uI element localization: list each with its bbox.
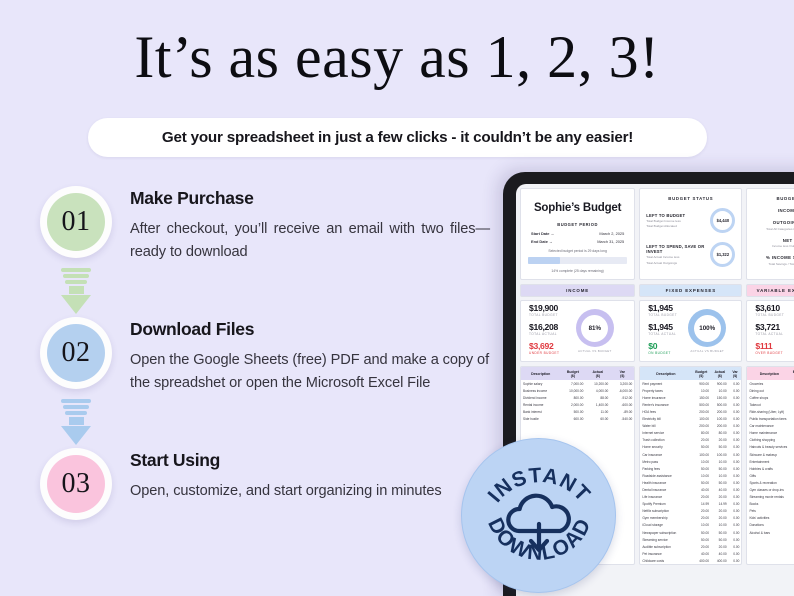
budget-period-heading: BUDGET PERIOD — [525, 222, 630, 227]
cell-amount: 50.00 — [711, 465, 729, 472]
cell-amount: -600.00 — [610, 401, 634, 408]
cell-amount: 100.00 — [692, 416, 711, 423]
cell-amount: 50.00 — [711, 444, 729, 451]
band-variable: VARIABLE EXPENSES — [746, 284, 794, 297]
badge-svg: INSTANT DOWNLOAD — [462, 439, 617, 594]
cell-description: Entertainment — [747, 458, 791, 465]
cell-amount: 900.00 — [692, 380, 711, 387]
cell-amount: 200.00 — [711, 408, 729, 415]
cell-description: Streaming service — [640, 536, 691, 543]
income-variance-label: UNDER BUDGET — [529, 351, 559, 355]
cell-description: Ride-sharing (Uber, Lyft) — [747, 408, 791, 415]
cell-amount: 0.00 — [729, 501, 742, 508]
step-1-title: Make Purchase — [130, 188, 490, 209]
table-row[interactable]: Sports & recreation — [747, 479, 794, 486]
cell-amount: 0.00 — [729, 472, 742, 479]
step-1-badge: 01 — [40, 186, 112, 258]
fixed-table-body: Rent payment900.00900.000.00Property tax… — [640, 380, 741, 564]
budget-progress-bar — [528, 257, 627, 264]
cell-amount: 0.00 — [729, 494, 742, 501]
fixed-total-budget-label: TOTAL BUDGET — [648, 313, 677, 317]
income-percent-label: ACTUAL VS BUDGET — [578, 349, 612, 353]
cell-amount: 20.00 — [692, 508, 711, 515]
table-row[interactable]: Ride-sharing (Uber, Lyft) — [747, 408, 794, 415]
cell-description: Hobbies & crafts — [747, 465, 791, 472]
variable-total-actual: $3,721 — [755, 322, 784, 332]
overview-3-label: NET — [751, 238, 794, 243]
table-row[interactable]: Entertainment — [747, 458, 794, 465]
cell-amount: 0.00 — [729, 458, 742, 465]
table-row[interactable]: Gym classes or drop-ins — [747, 486, 794, 493]
cell-amount: 10.00 — [692, 522, 711, 529]
cell-amount: 10,200.00 — [585, 380, 610, 387]
cell-description: iCloud storage — [640, 522, 691, 529]
status-2-label: LEFT TO SPEND, SAVE OR INVEST — [646, 244, 710, 254]
badge-top-text: INSTANT — [484, 464, 595, 507]
cell-amount: 20.00 — [711, 515, 729, 522]
cell-description: Dividend income — [521, 394, 560, 401]
cell-description: Gym membership — [640, 515, 691, 522]
end-date-label: End Date → — [531, 239, 553, 244]
cell-description: Metro pass — [640, 458, 691, 465]
col-header: Description — [521, 367, 560, 380]
cell-description: Home maintenance — [747, 430, 791, 437]
income-donut: 81% — [576, 309, 614, 347]
table-row[interactable]: Home maintenance — [747, 430, 794, 437]
step-1-number: 01 — [47, 193, 105, 251]
cell-amount: 0.00 — [729, 557, 742, 564]
table-row[interactable]: Rental income2,000.001,400.00-600.00 — [521, 401, 634, 408]
step-1-text: Make Purchase After checkout, you’ll rec… — [130, 188, 490, 263]
instant-download-badge[interactable]: INSTANT DOWNLOAD — [461, 438, 616, 593]
cell-description: Groceries — [747, 380, 791, 387]
cell-description: Sports & recreation — [747, 479, 791, 486]
step-3-badge: 03 — [40, 448, 112, 520]
income-total-budget: $19,900 — [529, 303, 559, 313]
cell-description: Gifts — [747, 472, 791, 479]
cell-amount: 10.00 — [711, 472, 729, 479]
arrow-down-icon-1 — [57, 268, 95, 314]
cell-description: Rent payment — [640, 380, 691, 387]
cell-amount: 400.00 — [692, 557, 711, 564]
cell-amount: 100.00 — [692, 451, 711, 458]
income-table-body: Sophie salary7,000.0010,200.003,200.00Bu… — [521, 380, 634, 423]
status-1-label: LEFT TO BUDGET — [646, 213, 685, 218]
cell-description: Pet insurance — [640, 550, 691, 557]
cell-amount: 200.00 — [692, 423, 711, 430]
cell-amount: 80.00 — [692, 430, 711, 437]
table-row[interactable]: HOA fees200.00200.000.00 — [640, 408, 741, 415]
cell-description: Home security — [640, 444, 691, 451]
table-row[interactable]: Books — [747, 501, 794, 508]
table-row[interactable]: Takeout — [747, 401, 794, 408]
cell-description: Spotify Premium — [640, 501, 691, 508]
cell-amount: 0.00 — [729, 465, 742, 472]
cell-amount: 40.00 — [711, 486, 729, 493]
table-row[interactable]: Metro pass10.0010.000.00 — [640, 458, 741, 465]
cell-amount: 200.00 — [692, 408, 711, 415]
fixed-donut: 100% — [688, 309, 726, 347]
cell-description: Childcare costs — [640, 557, 691, 564]
cell-amount: 50.00 — [692, 536, 711, 543]
variable-table[interactable]: DescriptionBudget($)Actual($)Var($) Groc… — [746, 366, 794, 565]
cell-description: Clothing shopping — [747, 437, 791, 444]
cell-amount: 20.00 — [711, 494, 729, 501]
income-percent: 81% — [581, 315, 608, 342]
cell-description: Car insurance — [640, 451, 691, 458]
fixed-percent: 100% — [694, 315, 721, 342]
cell-description: Dining out — [747, 387, 791, 394]
status-1-sub2: Total Budget Allocated — [646, 224, 685, 228]
status-2-value: $1,322 — [710, 242, 735, 267]
cell-description: Rental income — [521, 401, 560, 408]
band-fixed: FIXED EXPENSES — [639, 284, 742, 297]
cell-amount: 4,000.00 — [585, 387, 610, 394]
table-row[interactable]: Renter's insurance500.00500.000.00 — [640, 401, 741, 408]
cell-amount: 600.00 — [560, 416, 585, 423]
table-row[interactable]: Roadside assistance10.0010.000.00 — [640, 472, 741, 479]
table-row[interactable]: Haircuts & beauty services — [747, 444, 794, 451]
cell-description: Sophie salary — [521, 380, 560, 387]
cell-description: Water bill — [640, 423, 691, 430]
cell-description: Alcohol & bars — [747, 529, 791, 536]
cell-amount: 0.00 — [729, 408, 742, 415]
cell-amount: 0.00 — [729, 529, 742, 536]
cell-amount: 0.00 — [729, 444, 742, 451]
cell-description: Books — [747, 501, 791, 508]
fixed-variance: $0 — [648, 341, 677, 351]
cell-amount: 10.00 — [711, 387, 729, 394]
status-1-value: $4,440 — [710, 208, 735, 233]
cell-amount: -6,000.00 — [610, 387, 634, 394]
cell-amount: 88.00 — [585, 394, 610, 401]
cell-description: Public transportation fares — [747, 416, 791, 423]
cell-description: Electricity bill — [640, 416, 691, 423]
budget-status-card: BUDGET STATUS LEFT TO BUDGET Total Budge… — [639, 188, 742, 280]
cell-amount: 50.00 — [692, 479, 711, 486]
status-2-sub1: Total Actual Income less — [646, 255, 710, 259]
table-row[interactable]: Health insurance50.0050.000.00 — [640, 479, 741, 486]
start-date-label: Start Date → — [531, 231, 554, 236]
cell-description: Coffee shops — [747, 394, 791, 401]
cell-amount: 500.00 — [711, 401, 729, 408]
table-row[interactable]: Rent payment900.00900.000.00 — [640, 380, 741, 387]
table-row[interactable]: Groceries — [747, 380, 794, 387]
table-row[interactable]: Internet service80.0080.000.00 — [640, 430, 741, 437]
step-3-text: Start Using Open, customize, and start o… — [130, 450, 490, 503]
cell-description: Business income — [521, 387, 560, 394]
col-header: Var($) — [610, 367, 634, 380]
cell-amount: 100.00 — [711, 451, 729, 458]
cell-description: Kids' activities — [747, 515, 791, 522]
cell-amount: 0.00 — [729, 536, 742, 543]
income-total-actual: $16,208 — [529, 322, 559, 332]
table-row[interactable]: Audible subscription20.0020.000.00 — [640, 543, 741, 550]
table-row[interactable]: Dental insurance40.0040.000.00 — [640, 486, 741, 493]
budget-period-note: Selected budget period is 29 days long — [525, 249, 630, 253]
table-row[interactable]: Car insurance100.00100.000.00 — [640, 451, 741, 458]
table-row[interactable]: Coffee shops — [747, 394, 794, 401]
cell-amount: 40.00 — [692, 550, 711, 557]
cell-description: Home insurance — [640, 394, 691, 401]
variable-total-actual-label: TOTAL ACTUAL — [755, 332, 784, 336]
table-row[interactable]: Life insurance20.0020.000.00 — [640, 494, 741, 501]
cell-amount: 0.00 — [729, 437, 742, 444]
table-row[interactable]: Car maintenance — [747, 423, 794, 430]
fixed-table-header: DescriptionBudget($)Actual($)Var($) — [640, 367, 741, 380]
cell-amount: 0.00 — [729, 543, 742, 550]
variable-table-body: GroceriesDining outCoffee shopsTakeoutRi… — [747, 380, 794, 536]
cell-amount: 500.00 — [560, 408, 585, 415]
cell-description: Donations — [747, 522, 791, 529]
step-3-desc: Open, customize, and start organizing in… — [130, 480, 490, 503]
step-2-text: Download Files Open the Google Sheets (f… — [130, 319, 490, 394]
cell-amount: 0.00 — [729, 486, 742, 493]
cell-amount: 10.00 — [692, 472, 711, 479]
income-table-header: DescriptionBudget($)Actual($)Var($) — [521, 367, 634, 380]
table-row[interactable]: Clothing shopping — [747, 437, 794, 444]
cell-amount: 11.00 — [585, 408, 610, 415]
cell-description: Car maintenance — [747, 423, 791, 430]
variable-variance-label: OVER BUDGET — [755, 351, 784, 355]
income-variance: $3,692 — [529, 341, 559, 351]
fixed-percent-label: ACTUAL VS BUDGET — [690, 349, 724, 353]
table-row[interactable]: Pets — [747, 508, 794, 515]
cell-amount: 20.00 — [711, 437, 729, 444]
table-row[interactable]: Pet insurance40.0040.000.00 — [640, 550, 741, 557]
table-row[interactable]: Side hustle600.0060.00-540.00 — [521, 416, 634, 423]
table-row[interactable]: Bank interest500.0011.00-89.00 — [521, 408, 634, 415]
cell-amount: 50.00 — [692, 529, 711, 536]
table-row[interactable]: Childcare costs400.00400.000.00 — [640, 557, 741, 564]
cell-amount: 50.00 — [711, 529, 729, 536]
status-1-sub1: Total Budget Income less — [646, 219, 685, 223]
cell-amount: 14.99 — [692, 501, 711, 508]
cell-description: Internet service — [640, 430, 691, 437]
budget-progress-note: 14% complete (25 days remaining) — [525, 269, 630, 273]
fixed-variance-label: ON BUDGET — [648, 351, 677, 355]
summary-variable: $3,610 TOTAL BUDGET $3,721 TOTAL ACTUAL … — [746, 300, 794, 362]
col-header: Description — [747, 367, 791, 380]
table-row[interactable]: Skincare & makeup — [747, 451, 794, 458]
table-row[interactable]: iCloud storage10.0010.000.00 — [640, 522, 741, 529]
step-3-title: Start Using — [130, 450, 490, 471]
cell-amount: -89.00 — [610, 408, 634, 415]
table-row[interactable]: Donations — [747, 522, 794, 529]
cell-amount: 0.00 — [729, 423, 742, 430]
cell-amount: 3,200.00 — [610, 380, 634, 387]
start-date-value: March 2, 2025 — [599, 231, 624, 236]
promo-graphic: It’s as easy as 1, 2, 3! Get your spread… — [0, 0, 794, 596]
table-row[interactable]: Kids' activities — [747, 515, 794, 522]
table-row[interactable]: Water bill200.00200.000.00 — [640, 423, 741, 430]
cell-amount: 60.00 — [585, 416, 610, 423]
cell-amount: 0.00 — [729, 401, 742, 408]
cell-amount: 50.00 — [711, 479, 729, 486]
cell-amount: 150.00 — [711, 394, 729, 401]
table-row[interactable]: Trash collection20.0020.000.00 — [640, 437, 741, 444]
arrow-down-icon-2 — [57, 399, 95, 445]
variable-variance: $111 — [755, 341, 784, 351]
cell-amount: 0.00 — [729, 451, 742, 458]
variable-total-budget: $3,610 — [755, 303, 784, 313]
cell-description: Bank interest — [521, 408, 560, 415]
cell-amount: 0.00 — [729, 416, 742, 423]
cell-amount: 0.00 — [729, 394, 742, 401]
table-row[interactable]: Home security50.0050.000.00 — [640, 444, 741, 451]
cell-amount: 50.00 — [692, 444, 711, 451]
table-row[interactable]: Netflix subscription20.0020.000.00 — [640, 508, 741, 515]
cell-amount: 0.00 — [729, 380, 742, 387]
cell-amount: 800.00 — [560, 394, 585, 401]
cell-description: Roadside assistance — [640, 472, 691, 479]
income-total-actual-label: TOTAL ACTUAL — [529, 332, 559, 336]
budget-overview-card: BUDGET INCOME OUTGOINGS Total All Catego… — [746, 188, 794, 280]
step-2-badge: 02 — [40, 317, 112, 389]
table-row[interactable]: Alcohol & bars — [747, 529, 794, 536]
step-2-desc: Open the Google Sheets (free) PDF and ma… — [130, 349, 490, 394]
table-row[interactable]: Parking fees50.0050.000.00 — [640, 465, 741, 472]
cell-amount: 20.00 — [692, 437, 711, 444]
cell-amount: 500.00 — [692, 401, 711, 408]
cell-amount: 400.00 — [711, 557, 729, 564]
cell-amount: 1,400.00 — [585, 401, 610, 408]
table-row[interactable]: Streaming service50.0050.000.00 — [640, 536, 741, 543]
spreadsheet-title: Sophie’s Budget — [525, 193, 630, 222]
status-row-2: LEFT TO SPEND, SAVE OR INVEST Total Actu… — [646, 242, 735, 267]
cell-amount: 0.00 — [729, 508, 742, 515]
cell-amount: 200.00 — [711, 423, 729, 430]
cell-amount: 10.00 — [692, 387, 711, 394]
fixed-total-actual: $1,945 — [648, 322, 677, 332]
col-header: Budget($) — [692, 367, 711, 380]
end-date-row: End Date → March 31, 2025 — [531, 239, 624, 244]
fixed-table[interactable]: DescriptionBudget($)Actual($)Var($) Rent… — [639, 366, 742, 565]
cell-description: Newspaper subscription — [640, 529, 691, 536]
summary-income: $19,900 TOTAL BUDGET $16,208 TOTAL ACTUA… — [520, 300, 635, 362]
cell-amount: -912.00 — [610, 394, 634, 401]
summary-fixed: $1,945 TOTAL BUDGET $1,945 TOTAL ACTUAL … — [639, 300, 742, 362]
cell-description: Pets — [747, 508, 791, 515]
table-row[interactable]: Business income10,000.004,000.00-6,000.0… — [521, 387, 634, 394]
start-date-row: Start Date → March 2, 2025 — [531, 231, 624, 236]
subtitle-text: Get your spreadsheet in just a few click… — [162, 129, 633, 146]
variable-table-header: DescriptionBudget($)Actual($)Var($) — [747, 367, 794, 380]
col-header: Actual($) — [711, 367, 729, 380]
step-3-number: 03 — [47, 455, 105, 513]
cell-amount: 20.00 — [692, 515, 711, 522]
cell-description: Parking fees — [640, 465, 691, 472]
end-date-value: March 31, 2025 — [597, 239, 624, 244]
budget-status-heading: BUDGET STATUS — [644, 196, 737, 201]
table-row[interactable]: Public transportation fares — [747, 416, 794, 423]
overview-3-sub: Income less Outgoings — [751, 244, 794, 248]
col-header: Budget($) — [560, 367, 585, 380]
cell-description: Health insurance — [640, 479, 691, 486]
col-header: Description — [640, 367, 691, 380]
cell-amount: 50.00 — [711, 536, 729, 543]
cell-amount: 40.00 — [692, 486, 711, 493]
cell-amount: 7,000.00 — [560, 380, 585, 387]
income-total-budget-label: TOTAL BUDGET — [529, 313, 559, 317]
table-row[interactable]: Dining out — [747, 387, 794, 394]
cell-description: Netflix subscription — [640, 508, 691, 515]
table-row[interactable]: Gym membership20.0020.000.00 — [640, 515, 741, 522]
budget-overview-heading: BUDGET — [751, 196, 794, 201]
cell-description: Haircuts & beauty services — [747, 444, 791, 451]
cell-amount: 14.99 — [711, 501, 729, 508]
table-row[interactable]: Newspaper subscription50.0050.000.00 — [640, 529, 741, 536]
page-title: It’s as easy as 1, 2, 3! — [0, 26, 794, 89]
table-row[interactable]: Dividend income800.0088.00-912.00 — [521, 394, 634, 401]
cell-amount: 20.00 — [692, 543, 711, 550]
cell-amount: 20.00 — [692, 494, 711, 501]
table-row[interactable]: Spotify Premium14.9914.990.00 — [640, 501, 741, 508]
table-row[interactable]: Streaming movie rentals — [747, 494, 794, 501]
cell-amount: 10.00 — [711, 458, 729, 465]
cell-amount: 10.00 — [692, 458, 711, 465]
cell-amount: 150.00 — [692, 394, 711, 401]
cell-amount: 0.00 — [729, 522, 742, 529]
overview-2-sub: Total All Categories inc Savings — [751, 227, 794, 231]
cell-amount: 20.00 — [711, 543, 729, 550]
step-2-number: 02 — [47, 324, 105, 382]
cell-amount: 0.00 — [729, 387, 742, 394]
cell-amount: 100.00 — [711, 416, 729, 423]
cell-amount: 2,000.00 — [560, 401, 585, 408]
overview-1-label: INCOME — [751, 208, 794, 213]
subtitle-pill: Get your spreadsheet in just a few click… — [88, 118, 707, 157]
cell-amount: 80.00 — [711, 430, 729, 437]
cell-description: Skincare & makeup — [747, 451, 791, 458]
cell-amount: 0.00 — [729, 550, 742, 557]
cell-amount: 20.00 — [711, 508, 729, 515]
cell-description: Streaming movie rentals — [747, 494, 791, 501]
band-income: INCOME — [520, 284, 635, 297]
cell-description: Renter's insurance — [640, 401, 691, 408]
cell-description: Dental insurance — [640, 486, 691, 493]
table-row[interactable]: Home insurance150.00150.000.00 — [640, 394, 741, 401]
overview-2-label: OUTGOINGS — [751, 220, 794, 225]
cell-amount: 50.00 — [692, 465, 711, 472]
cell-amount: 10,000.00 — [560, 387, 585, 394]
fixed-total-budget: $1,945 — [648, 303, 677, 313]
cell-amount: 10.00 — [711, 522, 729, 529]
table-row[interactable]: Property taxes10.0010.000.00 — [640, 387, 741, 394]
table-row[interactable]: Gifts — [747, 472, 794, 479]
cell-amount: 900.00 — [711, 380, 729, 387]
table-row[interactable]: Electricity bill100.00100.000.00 — [640, 416, 741, 423]
cell-description: Life insurance — [640, 494, 691, 501]
col-header: Var($) — [729, 367, 742, 380]
fixed-total-actual-label: TOTAL ACTUAL — [648, 332, 677, 336]
variable-total-budget-label: TOTAL BUDGET — [755, 313, 784, 317]
budget-period-card: Sophie’s Budget BUDGET PERIOD Start Date… — [520, 188, 635, 280]
table-row[interactable]: Hobbies & crafts — [747, 465, 794, 472]
status-2-sub2: Total Actual Outgoings — [646, 261, 710, 265]
cell-amount: -540.00 — [610, 416, 634, 423]
table-row[interactable]: Sophie salary7,000.0010,200.003,200.00 — [521, 380, 634, 387]
overview-4-label: % INCOME SAVED — [751, 255, 794, 260]
col-header: Actual($) — [585, 367, 610, 380]
cell-amount: 40.00 — [711, 550, 729, 557]
step-2-title: Download Files — [130, 319, 490, 340]
cell-description: Trash collection — [640, 437, 691, 444]
cell-description: Gym classes or drop-ins — [747, 486, 791, 493]
cell-description: HOA fees — [640, 408, 691, 415]
cell-description: Property taxes — [640, 387, 691, 394]
cell-description: Side hustle — [521, 416, 560, 423]
